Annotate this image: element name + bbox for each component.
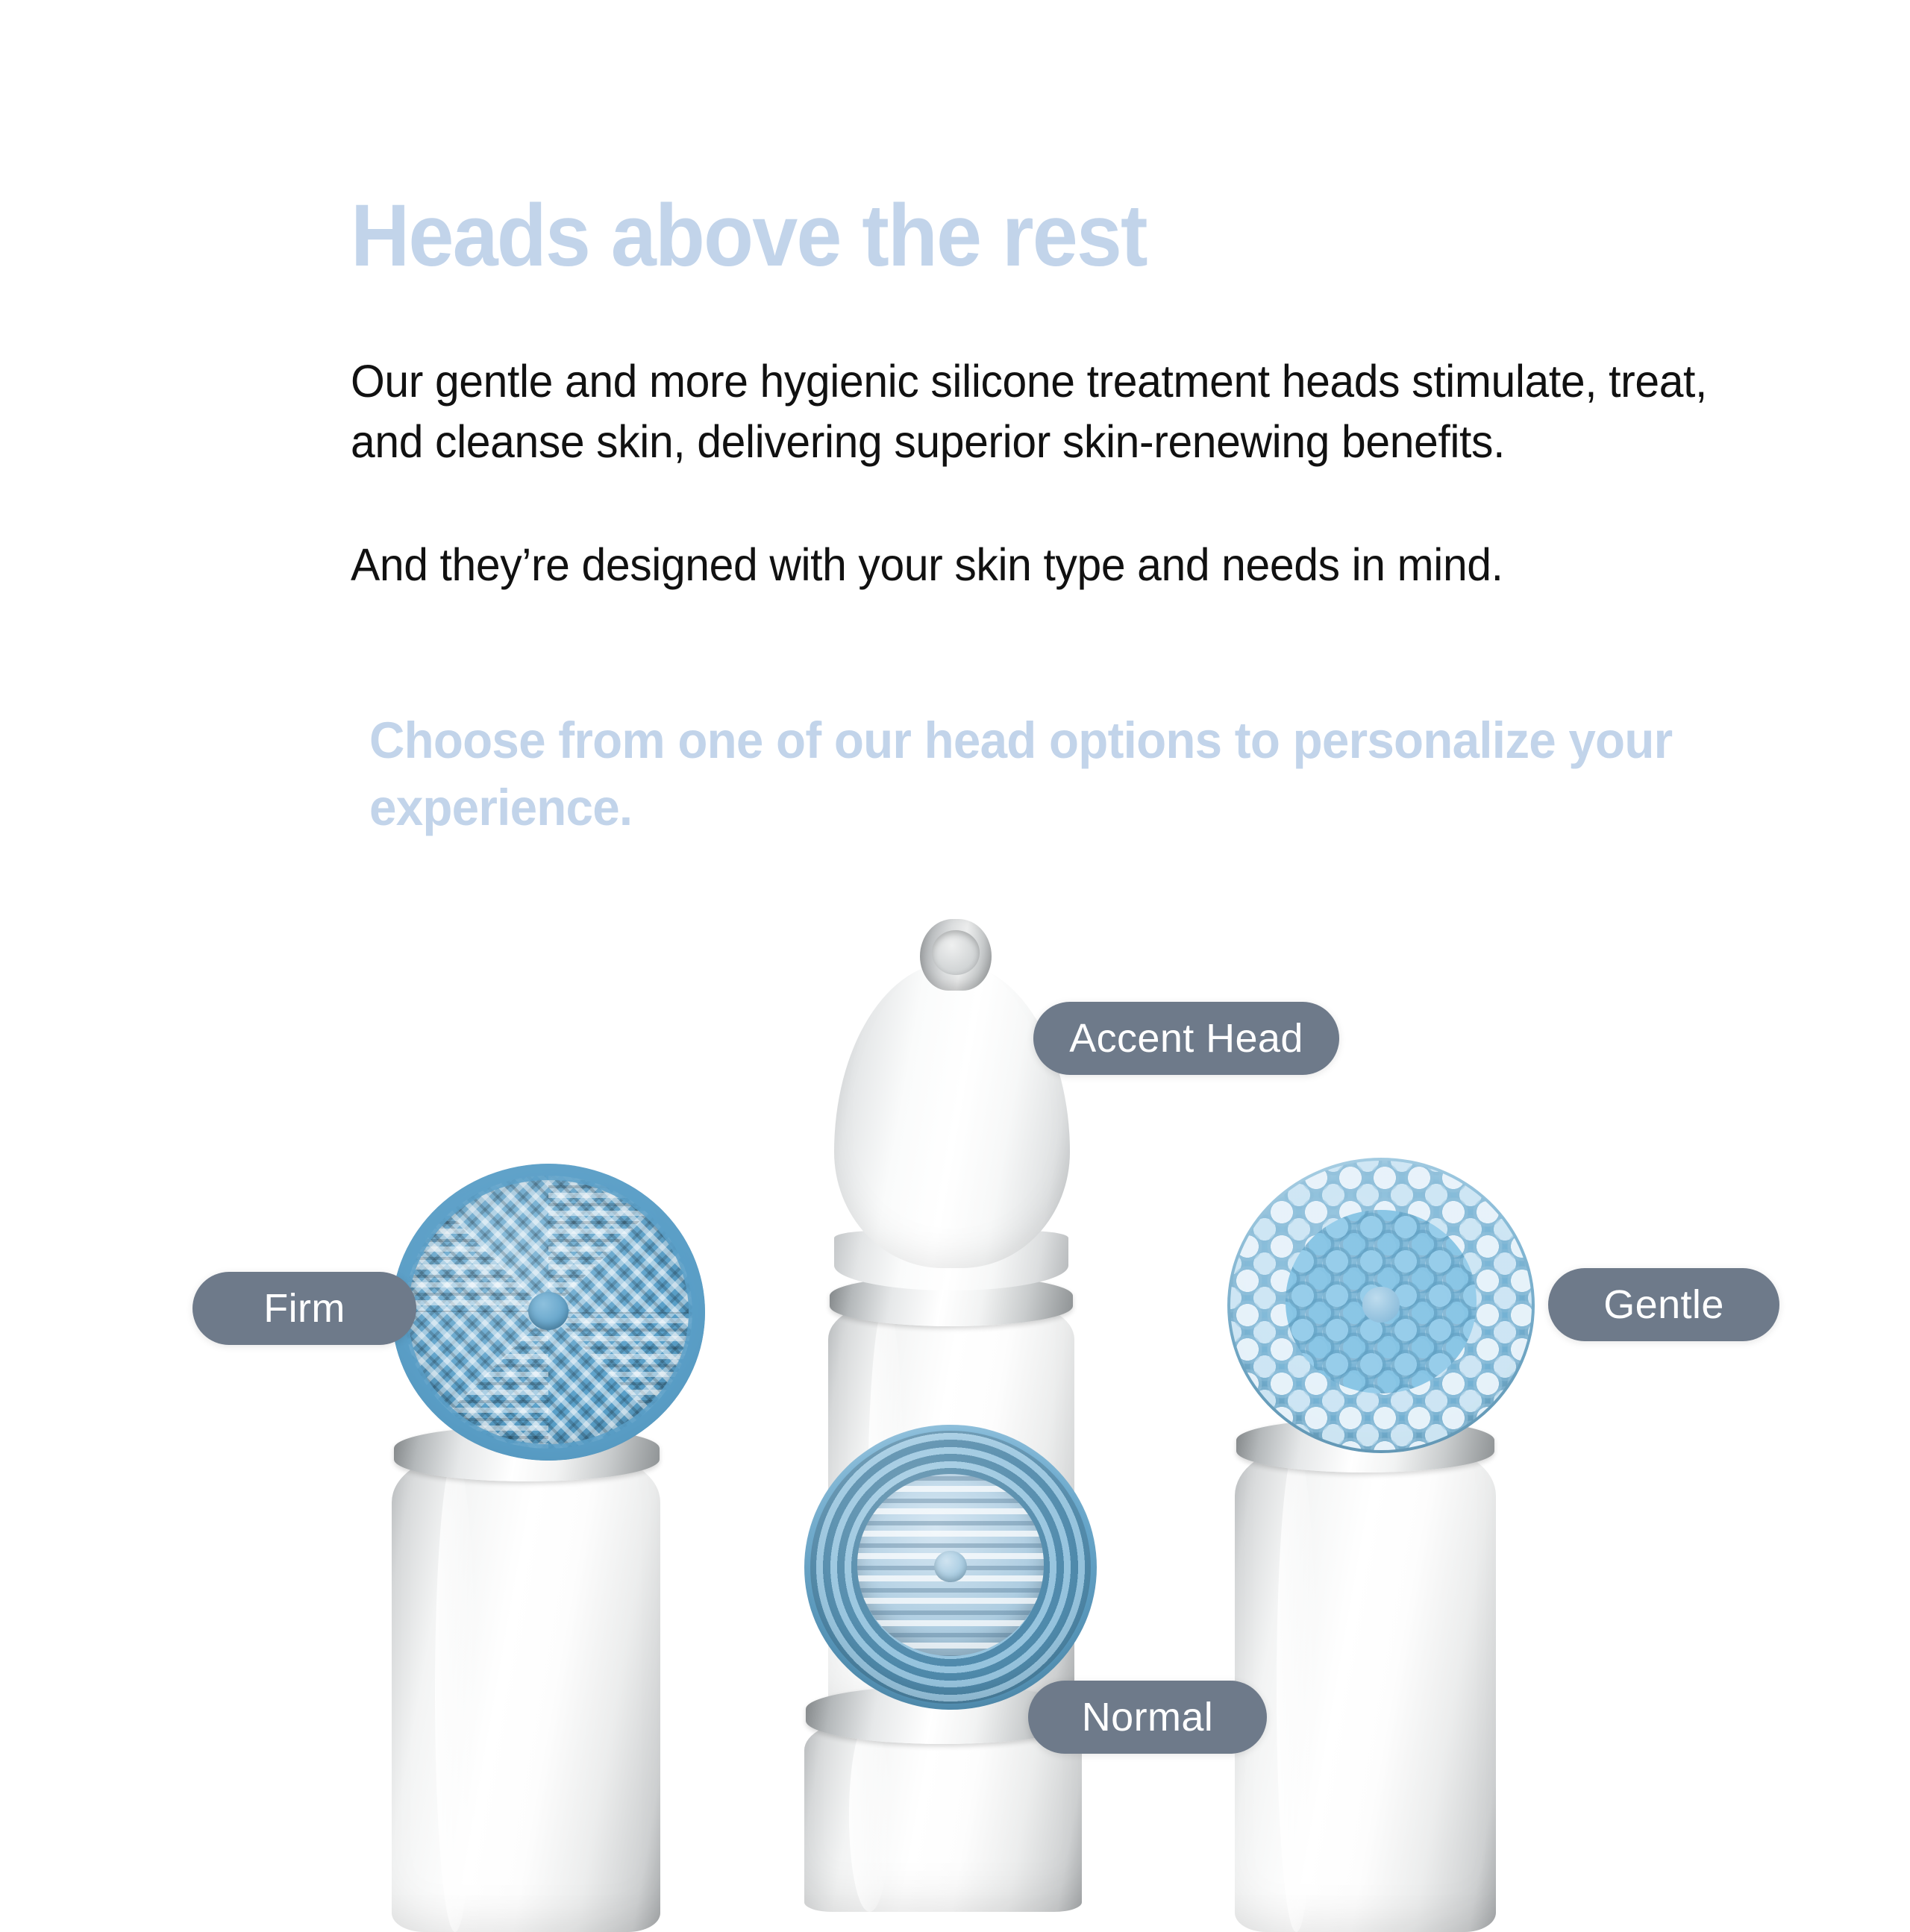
label-text-normal: Normal (1082, 1694, 1213, 1740)
accent-tip-ring (932, 930, 979, 975)
accent-head-tip (920, 919, 992, 991)
label-text-gentle: Gentle (1603, 1282, 1724, 1328)
device-handle-normal (804, 1719, 1082, 1912)
brush-head-firm (392, 1164, 705, 1461)
body-paragraph-1: Our gentle and more hygienic silicone tr… (351, 351, 1719, 472)
label-pill-normal[interactable]: Normal (1028, 1681, 1267, 1754)
subheading: Choose from one of our head options to p… (369, 707, 1698, 841)
accent-head-cone (834, 962, 1070, 1268)
body-paragraph-2: And they’re designed with your skin type… (351, 535, 1719, 595)
label-pill-gentle[interactable]: Gentle (1548, 1268, 1779, 1341)
marketing-copy-block: Heads above the rest Our gentle and more… (351, 190, 1768, 841)
page-title: Heads above the rest (351, 190, 1669, 283)
product-heads-illustration: Firm Accent Head Gen (0, 858, 1910, 1910)
label-text-firm: Firm (263, 1285, 345, 1332)
label-pill-firm[interactable]: Firm (192, 1272, 416, 1345)
device-handle-firm (392, 1455, 660, 1932)
brush-head-gentle (1227, 1158, 1535, 1453)
label-pill-accent[interactable]: Accent Head (1033, 1002, 1339, 1075)
gentle-head-hub (1362, 1287, 1399, 1323)
brush-head-normal (804, 1425, 1097, 1710)
label-text-accent: Accent Head (1069, 1015, 1303, 1061)
device-handle-gentle (1235, 1447, 1496, 1932)
normal-head-hub (934, 1551, 966, 1582)
